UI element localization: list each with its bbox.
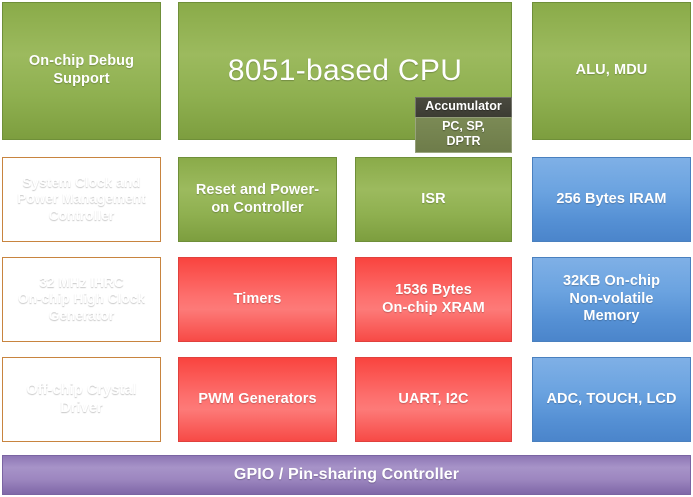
register-accumulator[interactable]: Accumulator — [415, 97, 512, 117]
block-label: ALU, MDU — [570, 62, 654, 80]
block-label: UART, I2C — [392, 391, 474, 409]
block-label: Reset and Power- on Controller — [190, 182, 325, 217]
block-on-chip-debug-support[interactable]: On-chip Debug Support — [2, 2, 161, 140]
register-pointers[interactable]: PC, SP, DPTR — [415, 117, 512, 153]
block-label: PWM Generators — [192, 391, 322, 409]
block-label: 8051-based CPU — [222, 53, 468, 90]
block-reset-power-on-controller[interactable]: Reset and Power- on Controller — [178, 157, 337, 242]
block-label: GPIO / Pin-sharing Controller — [228, 465, 465, 485]
block-gpio-pin-sharing-controller[interactable]: GPIO / Pin-sharing Controller — [2, 455, 691, 495]
block-xram[interactable]: 1536 Bytes On-chip XRAM — [355, 257, 512, 342]
block-label: 32 MHz IHRC On-chip High Clock Generator — [12, 275, 151, 324]
block-label: Off-chip Crystal Driver — [20, 382, 142, 417]
block-non-volatile-memory[interactable]: 32KB On-chip Non-volatile Memory — [532, 257, 691, 342]
block-diagram: On-chip Debug Support 8051-based CPU Acc… — [0, 0, 693, 497]
block-label: ADC, TOUCH, LCD — [540, 391, 682, 409]
block-label: ISR — [415, 191, 451, 209]
block-adc-touch-lcd[interactable]: ADC, TOUCH, LCD — [532, 357, 691, 442]
cpu-register-stack: Accumulator PC, SP, DPTR — [415, 97, 512, 153]
block-timers[interactable]: Timers — [178, 257, 337, 342]
block-off-chip-crystal-driver[interactable]: Off-chip Crystal Driver — [2, 357, 161, 442]
block-system-clock-power-management-controller[interactable]: System Clock and Power Management Contro… — [2, 157, 161, 242]
block-alu-mdu[interactable]: ALU, MDU — [532, 2, 691, 140]
block-pwm-generators[interactable]: PWM Generators — [178, 357, 337, 442]
block-label: 32KB On-chip Non-volatile Memory — [557, 273, 666, 326]
block-uart-i2c[interactable]: UART, I2C — [355, 357, 512, 442]
block-iram[interactable]: 256 Bytes IRAM — [532, 157, 691, 242]
block-label: System Clock and Power Management Contro… — [11, 175, 151, 224]
block-label: On-chip Debug Support — [23, 53, 140, 88]
block-ihrc-clock-generator[interactable]: 32 MHz IHRC On-chip High Clock Generator — [2, 257, 161, 342]
block-isr[interactable]: ISR — [355, 157, 512, 242]
block-label: 256 Bytes IRAM — [550, 191, 672, 209]
block-label: 1536 Bytes On-chip XRAM — [376, 282, 491, 317]
block-label: Timers — [228, 291, 288, 309]
